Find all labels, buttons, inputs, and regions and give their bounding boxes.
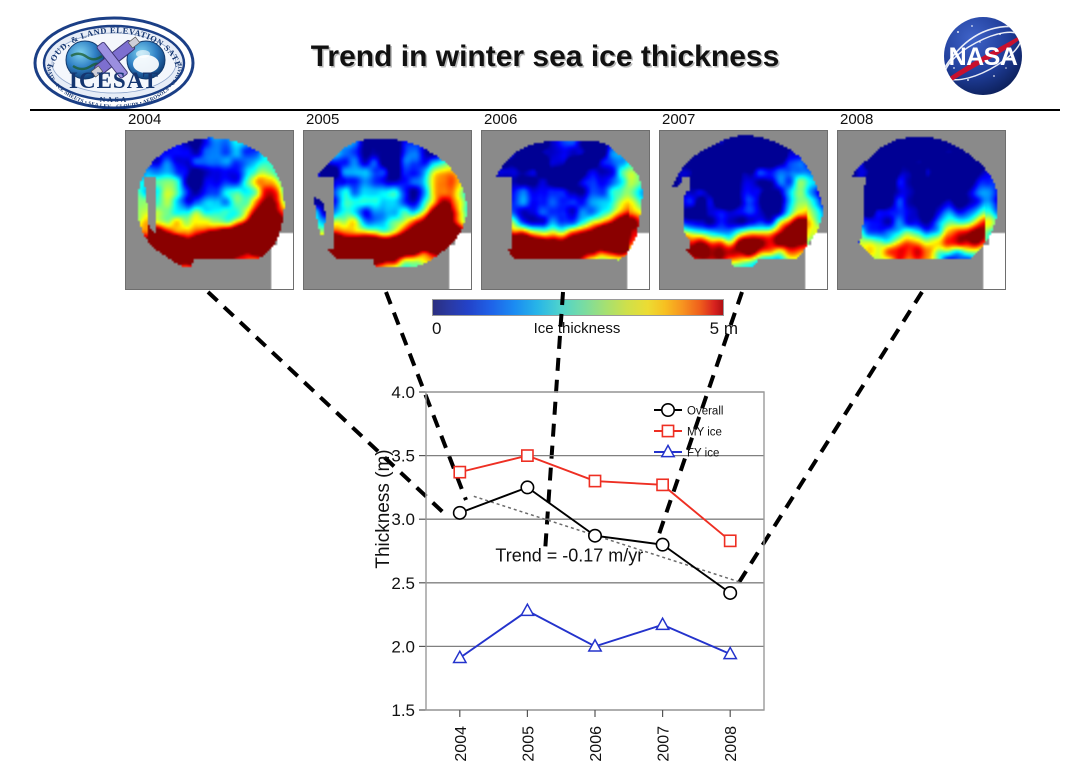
page-title: Trend in winter sea ice thickness	[0, 40, 1090, 74]
x-axis-tick-label: 2005	[520, 726, 537, 762]
icesat-agency-text: NASA	[100, 95, 128, 104]
colorbar-gradient	[432, 299, 724, 316]
map-panel-2005[interactable]: 2005	[303, 112, 476, 290]
data-point-marker	[662, 404, 674, 416]
data-point-marker	[521, 481, 533, 493]
x-axis-tick-label: 2004	[453, 726, 470, 762]
colorbar-title: Ice thickness	[432, 320, 722, 337]
trend-line	[474, 496, 742, 582]
map-panel-2007[interactable]: 2007	[659, 112, 832, 290]
sea-ice-thickness-map[interactable]	[303, 130, 472, 290]
colorbar: Ice thickness 0 5 m	[432, 299, 722, 341]
map-year-label: 2006	[481, 112, 654, 130]
map-panel-2006[interactable]: 2006	[481, 112, 654, 290]
y-axis-tick-label: 2.5	[391, 574, 415, 593]
colorbar-max-label: 5 m	[710, 319, 738, 339]
legend-label: Overall	[687, 406, 723, 418]
data-point-marker	[724, 587, 736, 599]
data-point-marker	[589, 475, 600, 486]
legend-label: MY ice	[687, 427, 722, 439]
sea-ice-thickness-map[interactable]	[837, 130, 1006, 290]
data-point-marker	[454, 507, 466, 519]
x-axis-tick-label: 2007	[656, 726, 673, 762]
data-point-marker	[454, 651, 466, 662]
map-year-label: 2008	[837, 112, 1010, 130]
data-point-marker	[589, 530, 601, 542]
map-year-label: 2007	[659, 112, 832, 130]
map-panel-2008[interactable]: 2008	[837, 112, 1010, 290]
sea-ice-thickness-map[interactable]	[125, 130, 294, 290]
data-point-marker	[662, 445, 674, 456]
colorbar-min-label: 0	[432, 319, 441, 339]
header-divider	[30, 109, 1060, 111]
map-panel-2004[interactable]: 2004	[125, 112, 298, 290]
data-point-marker	[725, 535, 736, 546]
x-axis-tick-label: 2006	[588, 726, 605, 762]
data-point-marker	[656, 618, 668, 629]
thickness-trend-chart: Thickness (m) 1.52.02.53.03.54.020042005…	[336, 380, 776, 780]
y-axis-tick-label: 4.0	[391, 383, 415, 402]
y-axis-tick-label: 1.5	[391, 701, 415, 720]
legend-label: FY ice	[687, 448, 719, 460]
sea-ice-thickness-map[interactable]	[659, 130, 828, 290]
map-year-label: 2004	[125, 112, 298, 130]
data-point-marker	[656, 538, 668, 550]
map-year-label: 2005	[303, 112, 476, 130]
data-point-marker	[657, 479, 668, 490]
y-axis-tick-label: 3.0	[391, 510, 415, 529]
slide-root: ICE, CLOUD, & LAND ELEVATION SATELLITE C…	[0, 0, 1090, 782]
data-point-marker	[454, 467, 465, 478]
data-point-marker	[522, 450, 533, 461]
trend-annotation: Trend = -0.17 m/yr	[495, 545, 643, 565]
chart-plot-area: 1.52.02.53.03.54.020042005200620072008Tr…	[336, 380, 776, 780]
data-point-marker	[521, 604, 533, 615]
y-axis-tick-label: 3.5	[391, 447, 415, 466]
data-point-marker	[662, 425, 673, 436]
map-panel-strip: 2004 2005 2006 2007 2008	[0, 112, 1090, 302]
x-axis-tick-label: 2008	[723, 726, 740, 762]
sea-ice-thickness-map[interactable]	[481, 130, 650, 290]
y-axis-tick-label: 2.0	[391, 637, 415, 656]
